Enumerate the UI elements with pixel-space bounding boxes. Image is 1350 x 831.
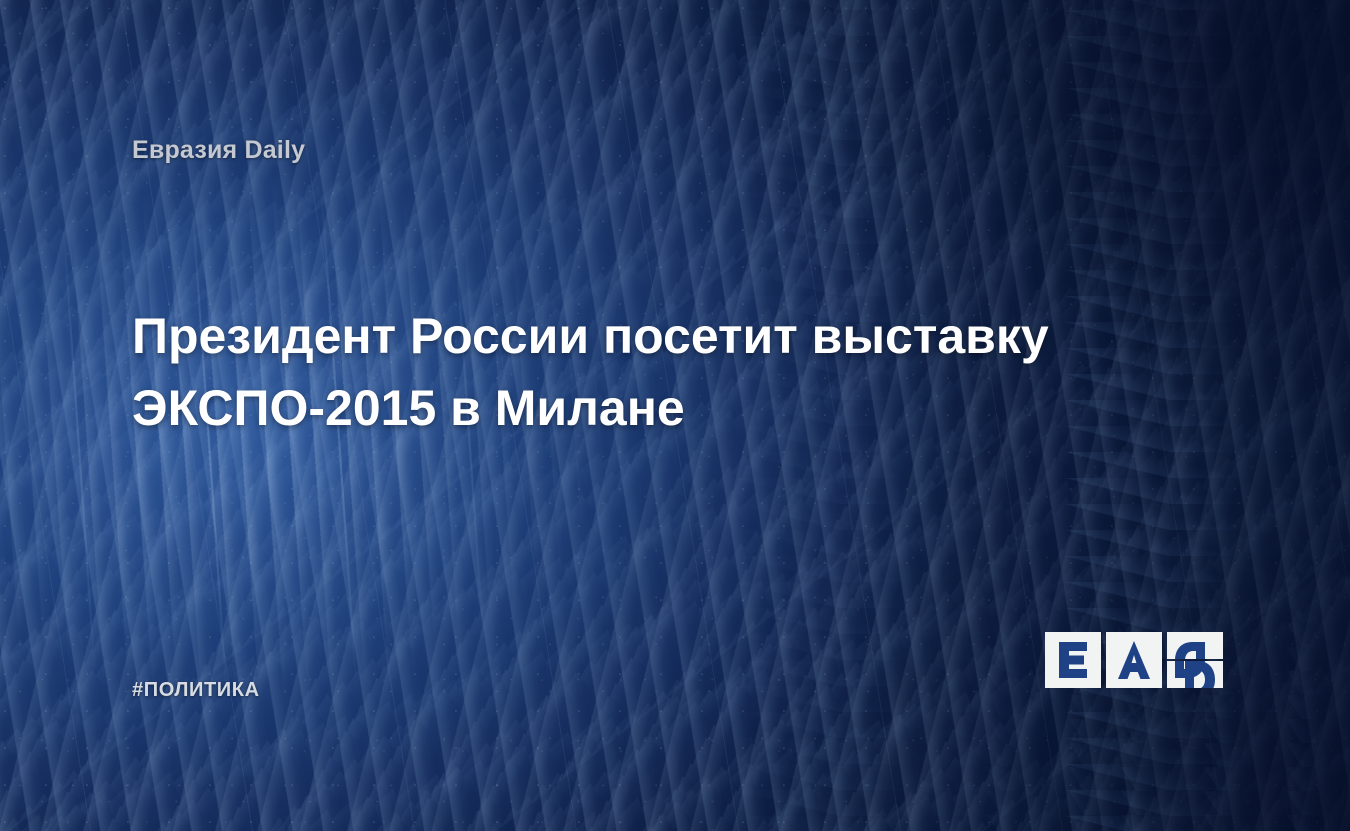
- letter-d-rotated-icon: [1167, 632, 1223, 659]
- card-content: Евразия Daily Президент России посетит в…: [0, 0, 1350, 831]
- letter-a-icon: [1106, 632, 1162, 688]
- eadaily-logo: [1045, 632, 1223, 688]
- logo-tile-a: [1106, 632, 1162, 688]
- article-headline: Президент России посетит выставку ЭКСПО-…: [132, 300, 1142, 444]
- logo-tile-d-split: [1167, 632, 1223, 688]
- social-share-card: Евразия Daily Президент России посетит в…: [0, 0, 1350, 831]
- category-hashtag: #ПОЛИТИКА: [132, 679, 260, 702]
- logo-half-d-top: [1167, 632, 1223, 659]
- letter-d-icon: [1167, 661, 1223, 688]
- letter-e-icon: [1045, 632, 1101, 688]
- logo-half-d-bottom: [1167, 661, 1223, 688]
- publisher-brand-name: Евразия Daily: [132, 136, 305, 165]
- logo-tile-e: [1045, 632, 1101, 688]
